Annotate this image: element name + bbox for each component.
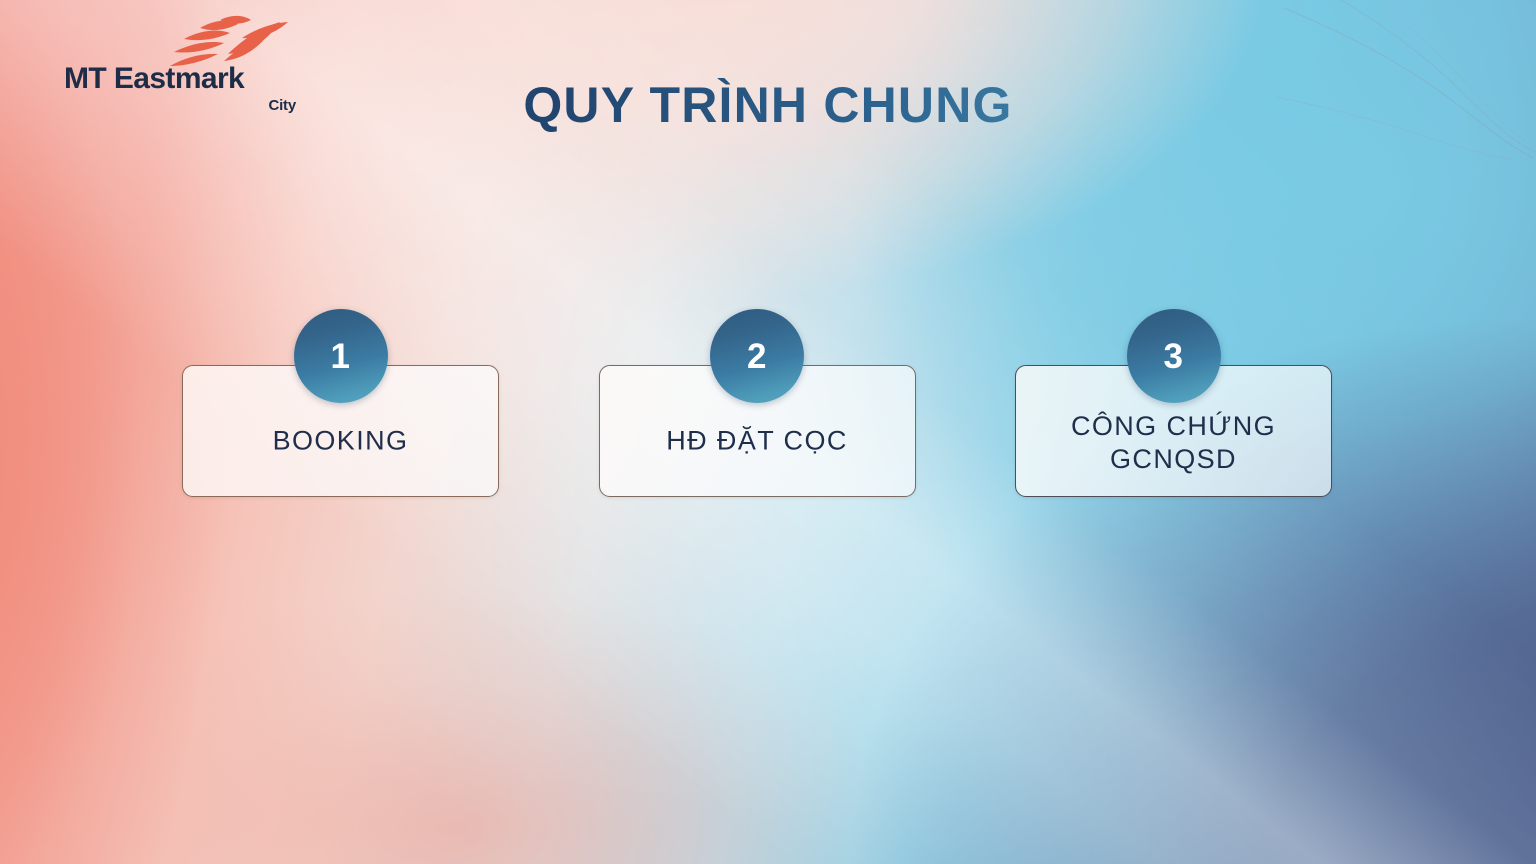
step-number-3: 3 [1164,339,1184,374]
page-title: QUY TRÌNH CHUNG [0,78,1536,133]
process-step-2[interactable]: 2 HĐ ĐẶT CỌC [599,365,916,497]
step-badge-2: 2 [710,309,804,403]
slide-canvas: MT Eastmark City QUY TRÌNH CHUNG 1 BOOKI… [0,0,1536,864]
step-badge-1: 1 [294,309,388,403]
process-step-3[interactable]: 3 CÔNG CHỨNG GCNQSD [1015,365,1332,497]
step-number-1: 1 [331,339,351,374]
process-steps: 1 BOOKING 2 HĐ ĐẶT CỌC 3 CÔNG CHỨNG GCNQ… [182,365,1332,500]
step-label-2: HĐ ĐẶT CỌC [599,425,916,458]
step-label-1: BOOKING [182,425,499,458]
process-step-1[interactable]: 1 BOOKING [182,365,499,497]
step-number-2: 2 [747,339,767,374]
step-badge-3: 3 [1127,309,1221,403]
step-label-3: CÔNG CHỨNG GCNQSD [1015,410,1332,476]
